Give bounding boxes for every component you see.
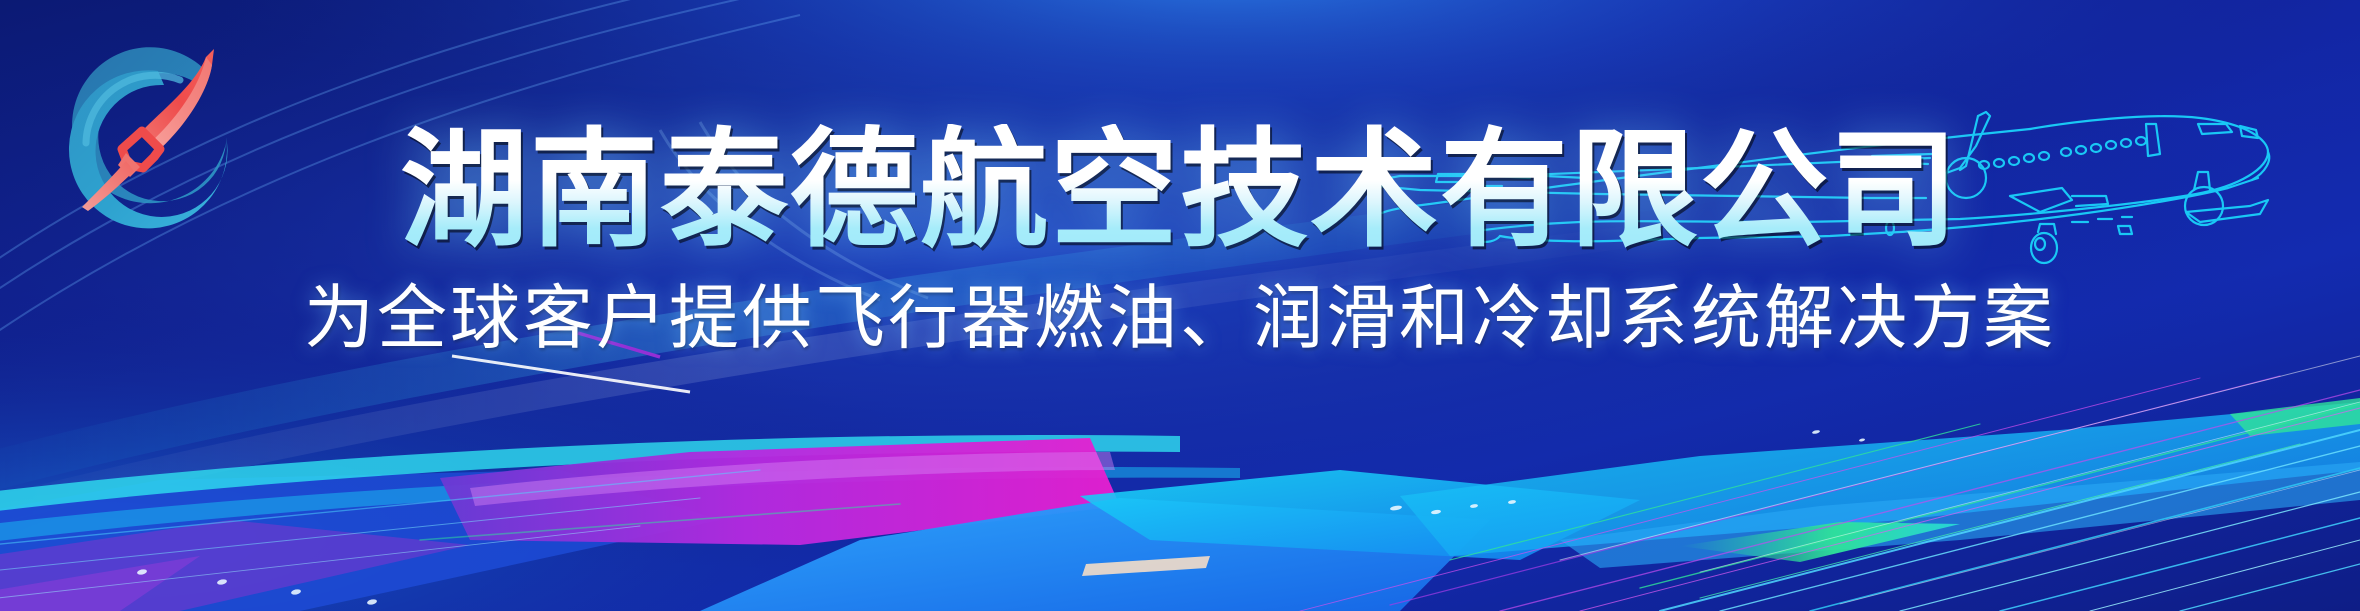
company-banner: 湖南泰德航空技术有限公司 为全球客户提供飞行器燃油、润滑和冷却系统解决方案 xyxy=(0,0,2360,611)
page-title: 湖南泰德航空技术有限公司 xyxy=(400,124,1960,258)
banner-text-block: 湖南泰德航空技术有限公司 为全球客户提供飞行器燃油、润滑和冷却系统解决方案 xyxy=(0,0,2360,611)
banner-tagline: 为全球客户提供飞行器燃油、润滑和冷却系统解决方案 xyxy=(304,280,2056,357)
